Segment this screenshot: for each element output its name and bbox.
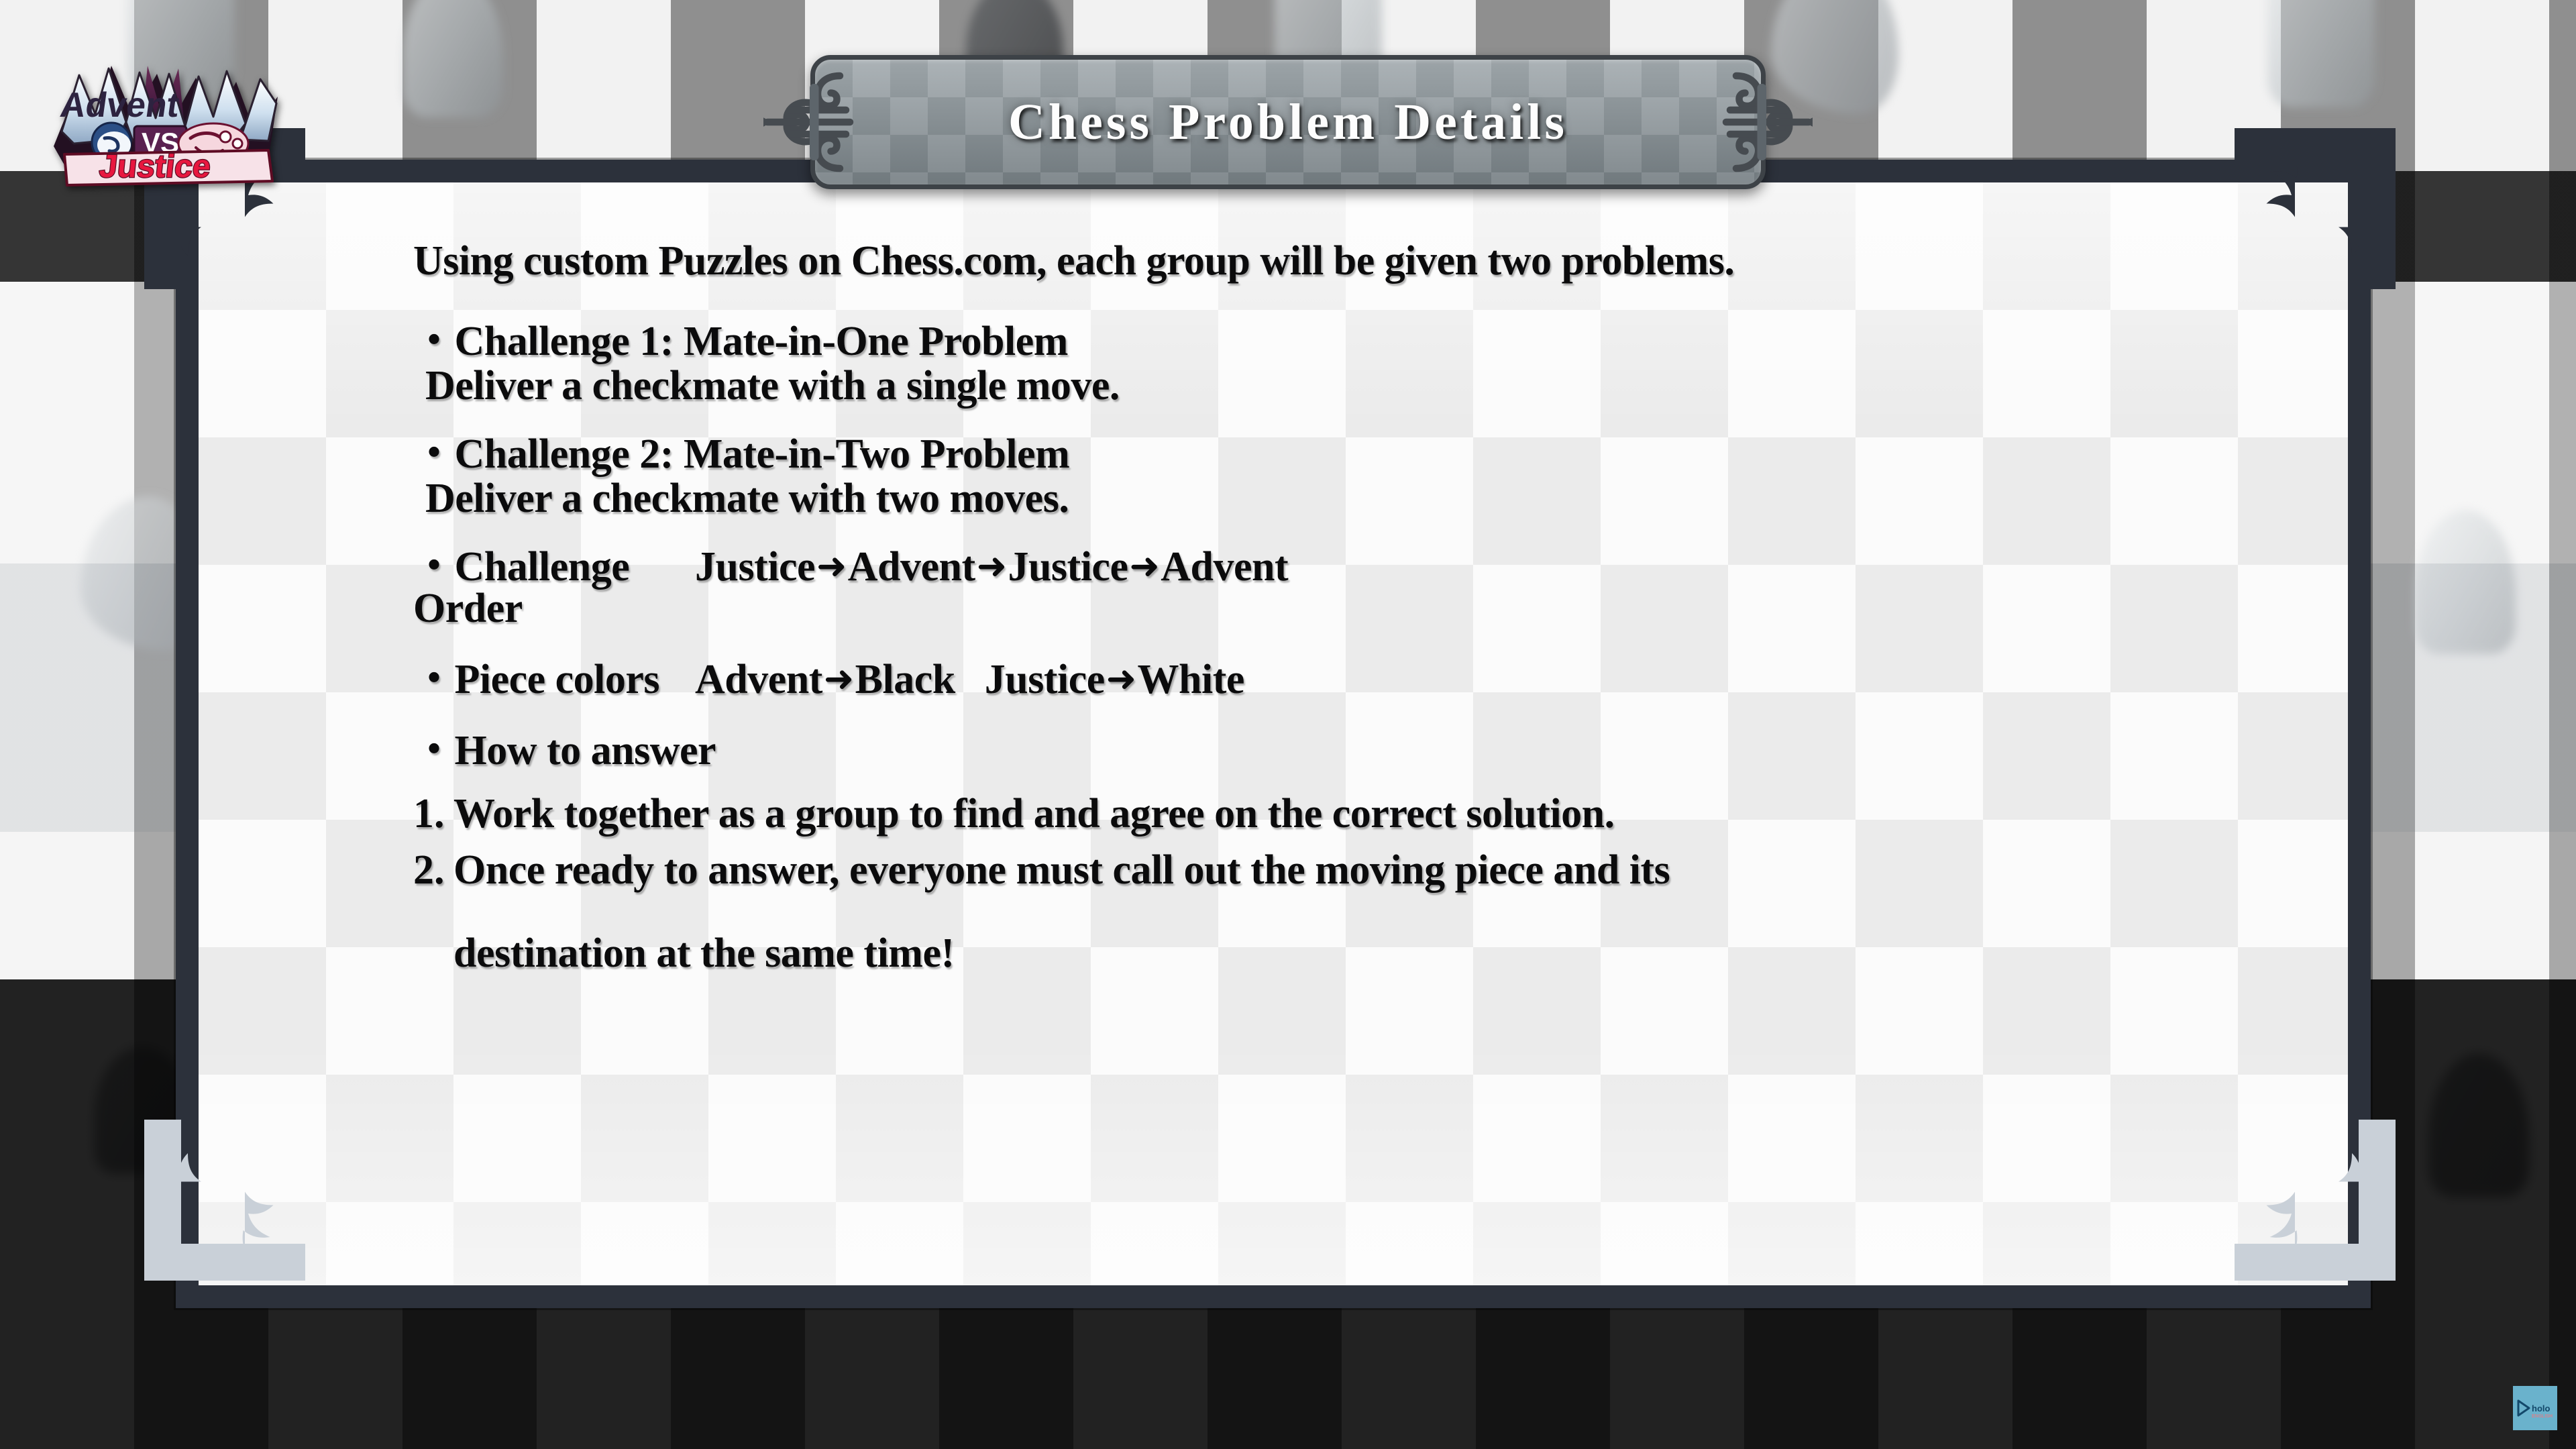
- arrow-icon: ➜: [975, 545, 1008, 587]
- svg-text:holo: holo: [2532, 1403, 2550, 1413]
- order-team-2: Advent: [848, 544, 975, 590]
- details-content: Using custom Puzzles on Chess.com, each …: [199, 182, 2348, 1285]
- step-1-text: Work together as a group to find and agr…: [453, 793, 2288, 835]
- arrow-icon: ➜: [1128, 545, 1161, 587]
- challenge-block-1: ・Challenge 1: Mate-in-One Problem Delive…: [413, 321, 2288, 407]
- how-to-answer-heading: ・How to answer: [413, 730, 2288, 771]
- step-2-text: Once ready to answer, everyone must call…: [453, 849, 2288, 891]
- content-panel: Using custom Puzzles on Chess.com, each …: [199, 182, 2348, 1285]
- challenge-order-row: ・Challenge Order Justice➜Advent➜Justice➜…: [413, 546, 2288, 629]
- fleur-de-lis-flourish-icon: [1712, 70, 1813, 174]
- piece-colors-row: ・Piece colors Advent➜BlackJustice➜White: [413, 659, 2288, 700]
- arrow-icon: ➜: [822, 657, 855, 700]
- play-triangle-icon: holo ENGLISH: [2516, 1397, 2555, 1419]
- piece-color-a-color: Black: [855, 657, 955, 702]
- challenge-2-heading: ・Challenge 2: Mate-in-Two Problem: [413, 433, 2288, 475]
- order-team-3: Justice: [1008, 544, 1128, 590]
- piece-color-b-team: Justice: [985, 657, 1105, 702]
- title-banner: Chess Problem Details: [810, 55, 1766, 189]
- fleur-de-lis-flourish-icon: [763, 70, 864, 174]
- order-team-4: Advent: [1161, 544, 1288, 590]
- piece-color-a-team: Advent: [695, 657, 822, 702]
- challenge-1-heading: ・Challenge 1: Mate-in-One Problem: [413, 321, 2288, 362]
- step-2-continuation: destination at the same time!: [453, 932, 2288, 974]
- advent-vs-justice-logo: Advent VS Justice: [47, 59, 288, 186]
- logo-advent-text: Advent: [58, 86, 181, 125]
- banner-right-flourish: [1712, 70, 1813, 174]
- challenge-order-value: Justice➜Advent➜Justice➜Advent: [695, 546, 1288, 588]
- advent-vs-justice-logo-icon: Advent VS Justice: [47, 59, 288, 186]
- arrow-icon: ➜: [815, 545, 848, 587]
- page-title: Chess Problem Details: [810, 55, 1766, 189]
- content-frame: Using custom Puzzles on Chess.com, each …: [176, 160, 2371, 1308]
- intro-text: Using custom Puzzles on Chess.com, each …: [413, 240, 2288, 282]
- svg-text:ENGLISH: ENGLISH: [2532, 1414, 2553, 1419]
- challenge-order-label: ・Challenge Order: [413, 546, 695, 629]
- piece-colors-label: ・Piece colors: [413, 659, 695, 700]
- challenge-1-detail: Deliver a checkmate with a single move.: [425, 365, 2288, 407]
- logo-justice-text: Justice: [98, 148, 213, 184]
- arrow-icon: ➜: [1105, 657, 1138, 700]
- step-1-number: 1.: [413, 793, 453, 835]
- order-team-1: Justice: [695, 544, 815, 590]
- hololive-english-watermark: holo ENGLISH: [2513, 1386, 2557, 1430]
- piece-color-b-color: White: [1138, 657, 1244, 702]
- step-2-number: 2.: [413, 849, 453, 891]
- banner-left-flourish: [763, 70, 864, 174]
- how-to-answer-step-2: 2. Once ready to answer, everyone must c…: [413, 849, 2288, 891]
- how-to-answer-step-1: 1. Work together as a group to find and …: [413, 793, 2288, 835]
- piece-colors-value: Advent➜BlackJustice➜White: [695, 659, 1244, 700]
- challenge-block-2: ・Challenge 2: Mate-in-Two Problem Delive…: [413, 433, 2288, 519]
- challenge-2-detail: Deliver a checkmate with two moves.: [425, 478, 2288, 519]
